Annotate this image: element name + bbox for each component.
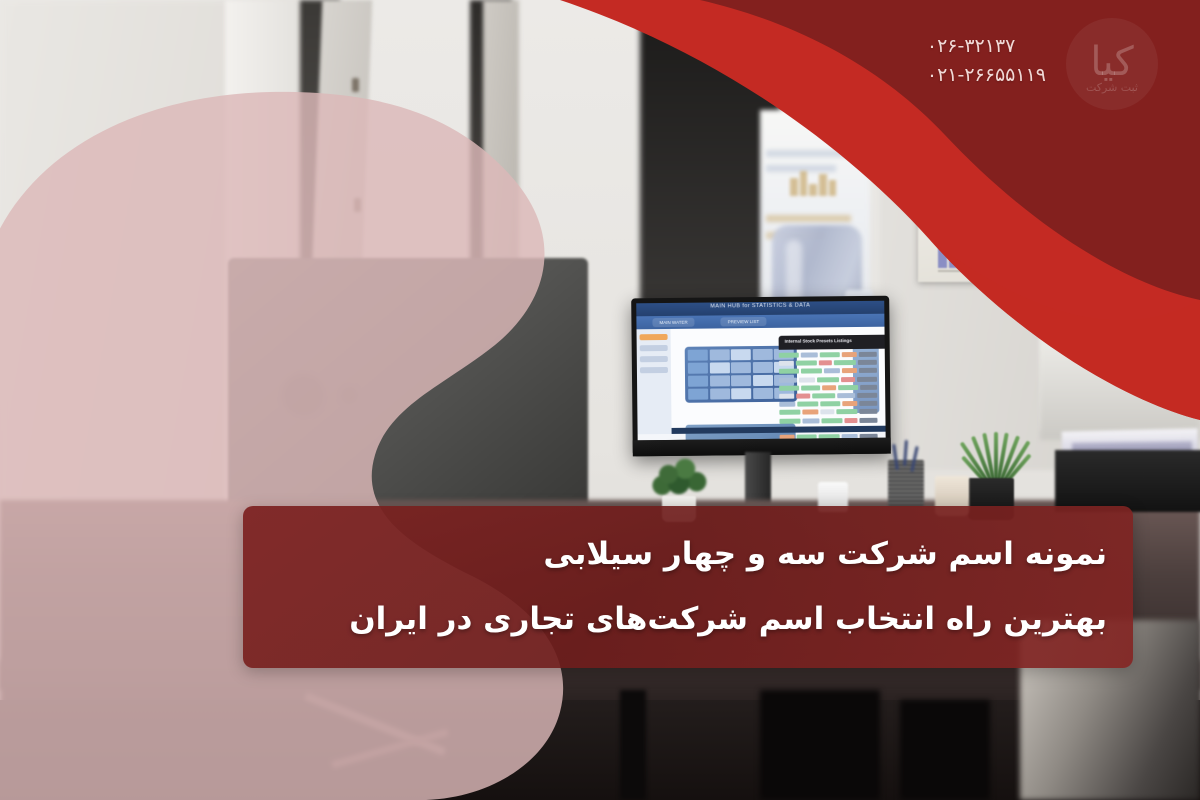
title-line-secondary: بهترین راه انتخاب اسم شرکت‌های تجاری در … (265, 600, 1107, 639)
title-line-primary: نمونه اسم شرکت سه و چهار سیلابی (265, 535, 1107, 574)
logo-subtitle: ثبت شرکت (1066, 81, 1158, 94)
contact-phone-block: ۰۲۶-۳۲۱۳۷ ۰۲۱-۲۶۶۵۵۱۱۹ (927, 32, 1046, 91)
logo-calligraphy-icon: کیا (1090, 42, 1133, 82)
phone-number-primary[interactable]: ۰۲۶-۳۲۱۳۷ (927, 32, 1046, 61)
phone-number-secondary[interactable]: ۰۲۱-۲۶۶۵۵۱۱۹ (927, 61, 1046, 90)
cover-image-canvas: MAIN HUB for STATISTICS & DATA MAIN WATE… (0, 0, 1200, 800)
company-logo[interactable]: کیا ثبت شرکت (1066, 18, 1158, 110)
title-banner: نمونه اسم شرکت سه و چهار سیلابی بهترین ر… (243, 506, 1133, 668)
